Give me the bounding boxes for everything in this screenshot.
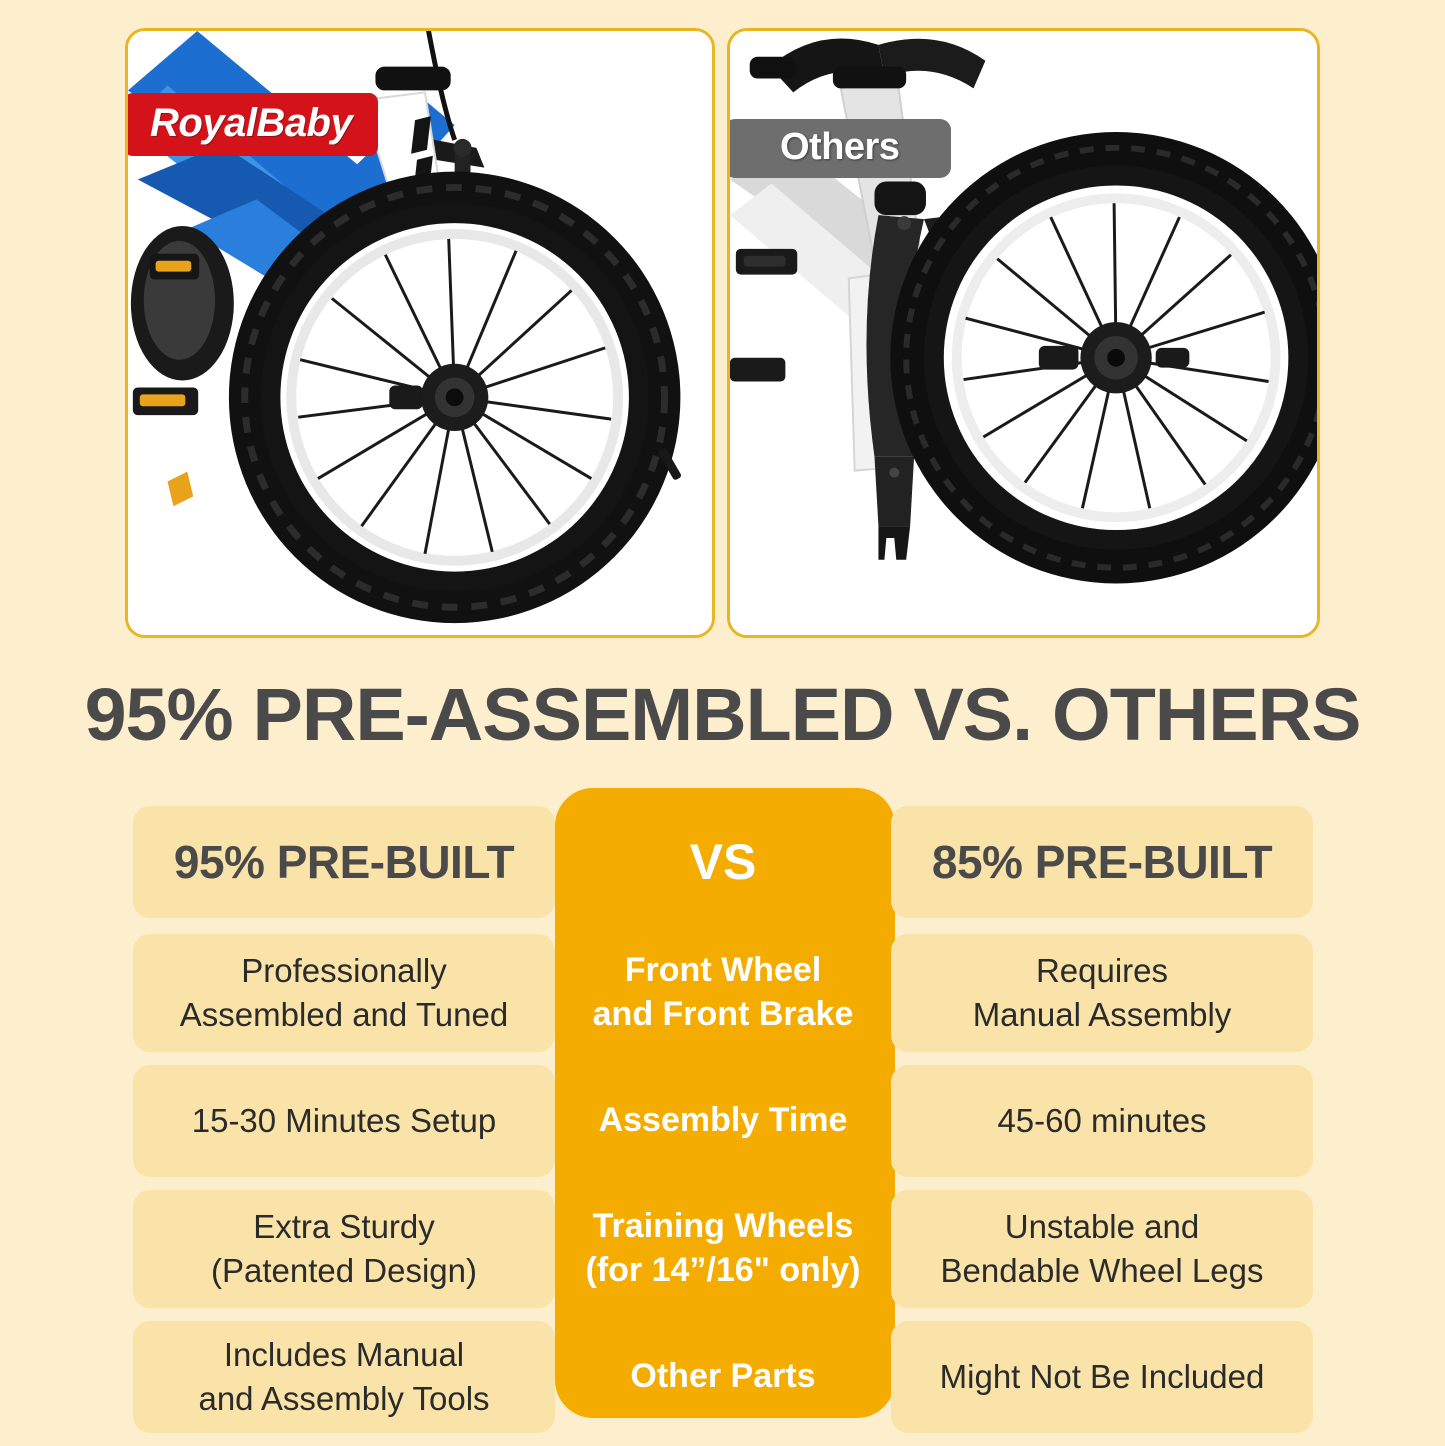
row2-left-line1: 15-30 Minutes Setup bbox=[192, 1099, 497, 1143]
row3-cell-others: Unstable and Bendable Wheel Legs bbox=[891, 1190, 1313, 1308]
photo-panel-royalbaby: RoyalBaby bbox=[125, 28, 715, 638]
row1-cell-royalbaby: Professionally Assembled and Tuned bbox=[133, 934, 555, 1052]
header-label-right: 85% PRE-BUILT bbox=[932, 835, 1272, 889]
row2-cell-others: 45-60 minutes bbox=[891, 1065, 1313, 1177]
row1-left-line1: Professionally bbox=[180, 949, 508, 993]
row3-left-line2: (Patented Design) bbox=[211, 1249, 477, 1293]
row4-cell-feature: Other Parts bbox=[555, 1321, 891, 1433]
header-cell-vs: VS bbox=[555, 806, 891, 918]
row1-cell-feature: Front Wheel and Front Brake bbox=[555, 934, 891, 1052]
row4-cell-others: Might Not Be Included bbox=[891, 1321, 1313, 1433]
table-row: 15-30 Minutes Setup Assembly Time 45-60 … bbox=[133, 1065, 1313, 1177]
row4-right-line1: Might Not Be Included bbox=[940, 1355, 1265, 1399]
table-header-row: 95% PRE-BUILT VS 85% PRE-BUILT bbox=[133, 806, 1313, 918]
row2-right-line1: 45-60 minutes bbox=[997, 1099, 1206, 1143]
row3-right-line2: Bendable Wheel Legs bbox=[941, 1249, 1264, 1293]
row2-cell-royalbaby: 15-30 Minutes Setup bbox=[133, 1065, 555, 1177]
row2-mid-line1: Assembly Time bbox=[599, 1099, 848, 1143]
royalbaby-brand-badge: RoyalBaby bbox=[125, 93, 378, 156]
row3-right-line1: Unstable and bbox=[941, 1205, 1264, 1249]
row3-left-line1: Extra Sturdy bbox=[211, 1205, 477, 1249]
photo-panel-others: Others bbox=[727, 28, 1320, 638]
row3-mid-line1: Training Wheels bbox=[586, 1205, 861, 1249]
page-title: 95% PRE-ASSEMBLED VS. OTHERS bbox=[0, 672, 1445, 757]
row4-left-line2: and Assembly Tools bbox=[198, 1377, 489, 1421]
row4-left-line1: Includes Manual bbox=[198, 1333, 489, 1377]
row3-mid-line2: (for 14”/16" only) bbox=[586, 1249, 861, 1293]
row4-mid-line1: Other Parts bbox=[630, 1355, 815, 1399]
table-row: Includes Manual and Assembly Tools Other… bbox=[133, 1321, 1313, 1433]
row1-mid-line1: Front Wheel bbox=[593, 949, 854, 993]
row1-right-line2: Manual Assembly bbox=[973, 993, 1232, 1037]
comparison-table: 95% PRE-BUILT VS 85% PRE-BUILT Professio… bbox=[133, 806, 1313, 1446]
header-label-left: 95% PRE-BUILT bbox=[174, 835, 514, 889]
row3-cell-royalbaby: Extra Sturdy (Patented Design) bbox=[133, 1190, 555, 1308]
others-brand-badge: Others bbox=[727, 119, 951, 178]
table-row: Professionally Assembled and Tuned Front… bbox=[133, 934, 1313, 1052]
row3-cell-feature: Training Wheels (for 14”/16" only) bbox=[555, 1190, 891, 1308]
header-cell-royalbaby: 95% PRE-BUILT bbox=[133, 806, 555, 918]
row1-mid-line2: and Front Brake bbox=[593, 993, 854, 1037]
product-photo-row: RoyalBaby bbox=[125, 28, 1320, 638]
table-row: Extra Sturdy (Patented Design) Training … bbox=[133, 1190, 1313, 1308]
row4-cell-royalbaby: Includes Manual and Assembly Tools bbox=[133, 1321, 555, 1433]
row1-left-line2: Assembled and Tuned bbox=[180, 993, 508, 1037]
row1-right-line1: Requires bbox=[973, 949, 1232, 993]
row2-cell-feature: Assembly Time bbox=[555, 1065, 891, 1177]
header-label-vs: VS bbox=[690, 833, 757, 891]
header-cell-others: 85% PRE-BUILT bbox=[891, 806, 1313, 918]
row1-cell-others: Requires Manual Assembly bbox=[891, 934, 1313, 1052]
